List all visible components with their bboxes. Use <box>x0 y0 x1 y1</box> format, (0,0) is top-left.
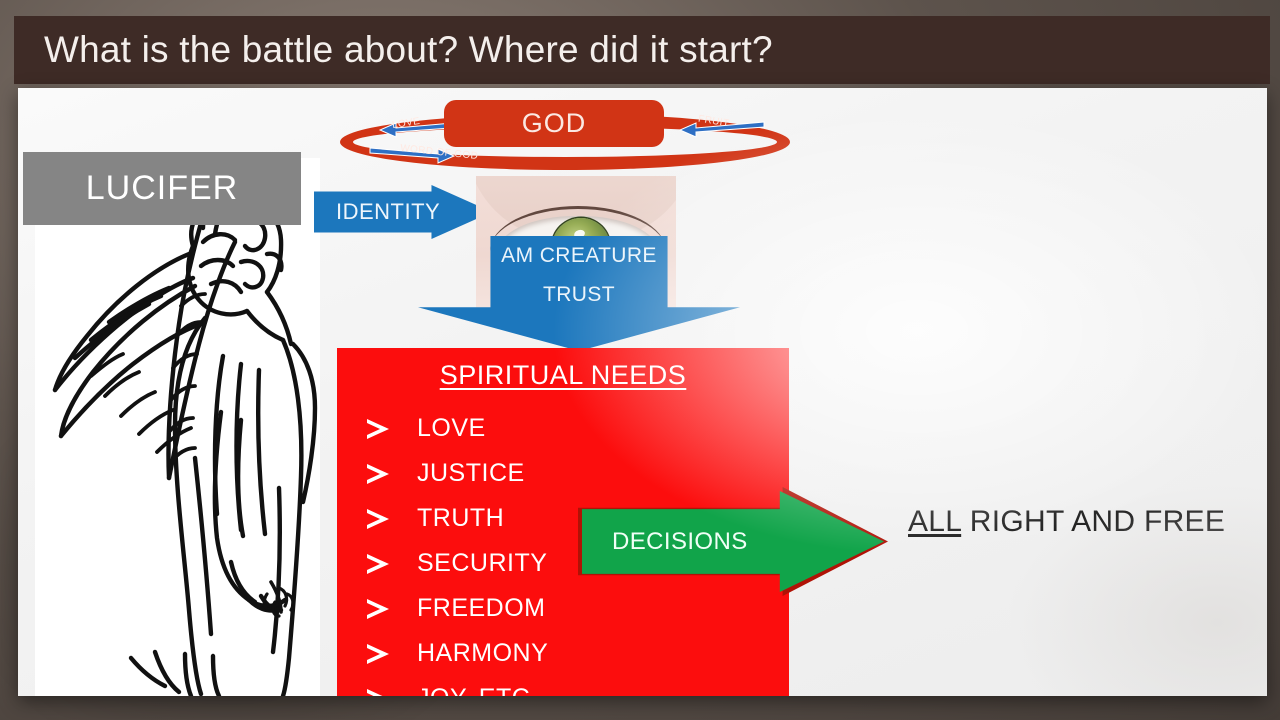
outcome-text: ALL RIGHT AND FREE <box>908 505 1267 539</box>
god-label-box: GOD <box>444 100 664 147</box>
bullet-chevron-icon <box>365 508 395 530</box>
spiritual-needs-list: LOVE JUSTICE TRUTH SECURITY FREEDOM HARM… <box>365 406 548 696</box>
list-item-label: TRUTH <box>417 504 504 533</box>
bullet-chevron-icon <box>365 553 395 575</box>
list-item: SECURITY <box>365 541 548 586</box>
bullet-chevron-icon <box>365 688 395 697</box>
bullet-chevron-icon <box>365 598 395 620</box>
lucifer-label: LUCIFER <box>86 169 238 208</box>
list-item: JUSTICE <box>365 451 548 496</box>
eyebrow <box>480 178 670 204</box>
god-label: GOD <box>522 108 587 139</box>
outcome-emphasis: ALL <box>908 505 961 538</box>
list-item-label: LOVE <box>417 414 486 443</box>
lucifer-label-box: LUCIFER <box>23 152 301 225</box>
bullet-chevron-icon <box>365 643 395 665</box>
bullet-chevron-icon <box>365 418 395 440</box>
list-item-label: HARMONY <box>417 639 548 668</box>
god-cycle-diagram: LOVE FRUIT WORD OF GOD GOD <box>340 100 790 172</box>
decisions-arrow: DECISIONS <box>578 487 888 596</box>
list-item: JOY, ETC <box>365 676 548 696</box>
spiritual-needs-heading: SPIRITUAL NEEDS <box>337 360 789 391</box>
angel-line-drawing-icon <box>35 158 320 696</box>
slide-title-bar: What is the battle about? Where did it s… <box>14 16 1270 84</box>
slide-canvas: LOVE FRUIT WORD OF GOD GOD <box>18 88 1267 696</box>
lucifer-image-frame <box>35 158 320 696</box>
slide: What is the battle about? Where did it s… <box>14 16 1270 696</box>
bullet-chevron-icon <box>365 463 395 485</box>
list-item-label: FREEDOM <box>417 594 546 623</box>
spiritual-needs-heading-text: SPIRITUAL NEEDS <box>440 360 687 390</box>
slide-viewer: What is the battle about? Where did it s… <box>0 0 1280 720</box>
identity-arrow: IDENTITY <box>314 185 492 239</box>
decisions-arrow-label: DECISIONS <box>612 528 748 556</box>
lucifer-image <box>30 158 322 696</box>
list-item: LOVE <box>365 406 548 451</box>
list-item: HARMONY <box>365 631 548 676</box>
creature-arrow-line2: TRUST <box>418 283 740 307</box>
creature-trust-arrow: AM CREATURE TRUST <box>418 236 740 351</box>
list-item: TRUTH <box>365 496 548 541</box>
page-title: What is the battle about? Where did it s… <box>44 29 773 71</box>
list-item: FREEDOM <box>365 586 548 631</box>
list-item-label: JUSTICE <box>417 459 525 488</box>
identity-arrow-label: IDENTITY <box>314 199 440 225</box>
outcome-rest: RIGHT AND FREE <box>961 505 1225 538</box>
list-item-label: JOY, ETC <box>417 684 530 696</box>
creature-arrow-line1: AM CREATURE <box>418 244 740 268</box>
list-item-label: SECURITY <box>417 549 547 578</box>
